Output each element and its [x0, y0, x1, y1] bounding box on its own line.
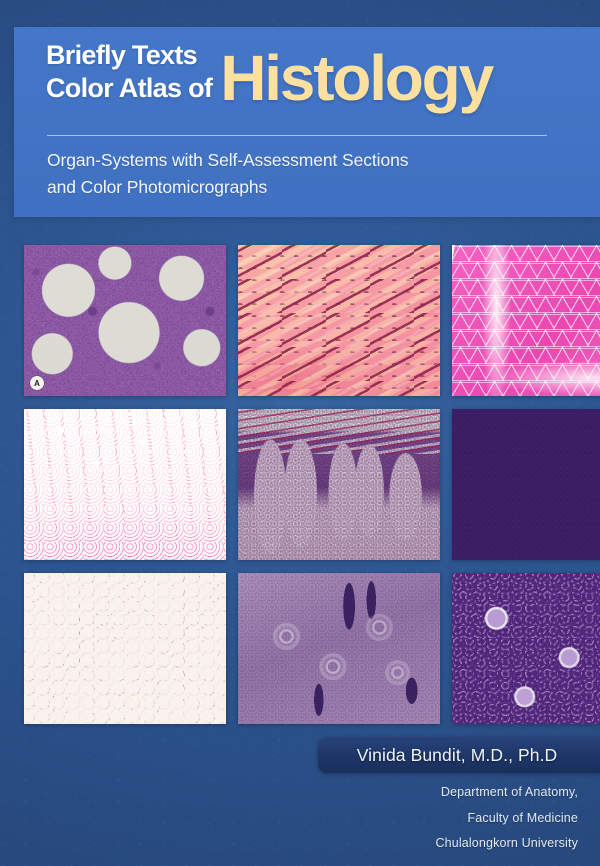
- tissue-texture: [452, 409, 600, 560]
- tissue-texture: [24, 245, 226, 396]
- tissue-texture: [238, 573, 440, 724]
- gallery-row: A: [24, 245, 600, 396]
- title-line-2: Color Atlas of: [46, 75, 212, 102]
- subtitle-line-1: Organ-Systems with Self-Assessment Secti…: [47, 147, 580, 174]
- tissue-texture: [238, 409, 440, 560]
- tissue-texture: [24, 573, 226, 724]
- book-cover: Briefly Texts Color Atlas of Histology O…: [0, 0, 600, 866]
- author-name: Vinida Bundit, M.D., Ph.D: [357, 745, 562, 766]
- gallery-row: [24, 409, 600, 560]
- photomicrograph-liver-hepatocytes: [452, 573, 600, 724]
- photomicrograph-thick-skin-epidermis: [238, 409, 440, 560]
- author-affiliation: Department of Anatomy, Faculty of Medici…: [435, 780, 578, 857]
- photomicrograph-bone-marrow: A: [24, 245, 226, 396]
- title-row: Briefly Texts Color Atlas of Histology: [46, 42, 594, 108]
- photomicrograph-lymphoid-tissue: [452, 409, 600, 560]
- title-divider: [47, 135, 547, 136]
- subtitle-line-2: and Color Photomicrographs: [47, 174, 580, 201]
- page-title: Histology: [220, 49, 492, 108]
- photomicrograph-muscle-longitudinal: [238, 245, 440, 396]
- tissue-texture: [452, 573, 600, 724]
- tissue-texture: [238, 245, 440, 396]
- title-secondary-group: Briefly Texts Color Atlas of: [46, 42, 212, 108]
- gallery-row: [24, 573, 600, 724]
- photomicrograph-adipose-tissue: [24, 573, 226, 724]
- affiliation-line-3: Chulalongkorn University: [435, 831, 578, 857]
- photomicrograph-skeletal-muscle-cross-section: [452, 245, 600, 396]
- author-name-band: Vinida Bundit, M.D., Ph.D: [318, 737, 600, 773]
- affiliation-line-2: Faculty of Medicine: [435, 806, 578, 832]
- photomicrograph-grid: A: [24, 245, 600, 737]
- panel-label-badge: A: [30, 376, 44, 390]
- tissue-texture: [452, 245, 600, 396]
- photomicrograph-endochondral-ossification: [24, 409, 226, 560]
- title-banner: Briefly Texts Color Atlas of Histology O…: [14, 27, 600, 217]
- affiliation-line-1: Department of Anatomy,: [435, 780, 578, 806]
- photomicrograph-compact-bone-osteons: [238, 573, 440, 724]
- subtitle: Organ-Systems with Self-Assessment Secti…: [47, 147, 580, 201]
- title-line-1: Briefly Texts: [46, 42, 212, 69]
- tissue-texture: [24, 409, 226, 560]
